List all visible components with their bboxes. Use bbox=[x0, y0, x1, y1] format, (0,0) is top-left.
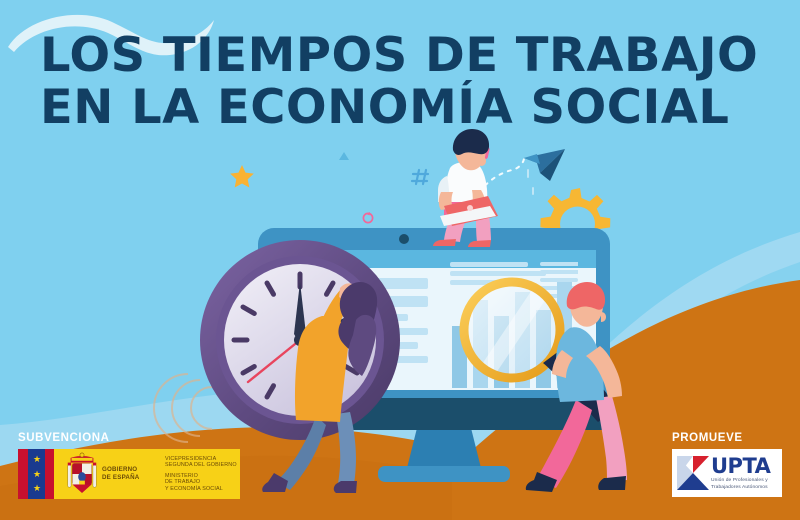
triangle-icon bbox=[339, 152, 349, 160]
gobierno-name-line1: GOBIERNO bbox=[102, 466, 160, 474]
ministerio-line3: Y ECONOMÍA SOCIAL bbox=[165, 486, 240, 492]
laptop-logo bbox=[467, 205, 473, 211]
paper-plane-icon bbox=[524, 149, 565, 181]
subvenciona-label: SUBVENCIONA bbox=[18, 432, 240, 444]
figure1-shoe-front bbox=[334, 481, 357, 493]
figure3-shoe-front bbox=[598, 476, 626, 490]
title-line-2: EN LA ECONOMÍA SOCIAL bbox=[40, 82, 774, 134]
star-icon bbox=[230, 165, 254, 188]
upta-wordmark: UPTA bbox=[711, 456, 778, 477]
upta-logo: UPTA Unión de Profesionales y Trabajador… bbox=[672, 449, 782, 497]
promueve-credit: PROMUEVE UPTA Unión de Profesionales y T… bbox=[672, 432, 782, 497]
title-line-1: LOS TIEMPOS DE TRABAJO bbox=[40, 30, 774, 82]
vicepresidencia-line2: SEGUNDA DEL GOBIERNO bbox=[165, 462, 240, 468]
gobierno-name-line2: DE ESPAÑA bbox=[102, 474, 160, 482]
ministerio-text: VICEPRESIDENCIA SEGUNDA DEL GOBIERNO MIN… bbox=[160, 449, 240, 499]
spanish-coat-of-arms-icon bbox=[62, 449, 102, 499]
upta-subtitle-line1: Unión de Profesionales y bbox=[711, 478, 778, 484]
eu-stars-icon: ★★★ bbox=[31, 455, 43, 493]
subvenciona-credit: SUBVENCIONA ★★★ bbox=[18, 432, 240, 499]
monitor-stand bbox=[406, 424, 482, 472]
monitor-base bbox=[378, 466, 510, 482]
upta-mark-icon bbox=[676, 455, 710, 491]
spanish-flag-strip: ★★★ bbox=[18, 449, 62, 499]
poster-canvas: LOS TIEMPOS DE TRABAJO EN LA ECONOMÍA SO… bbox=[0, 0, 800, 520]
promueve-label: PROMUEVE bbox=[672, 432, 782, 444]
monitor-camera bbox=[399, 234, 409, 244]
poster-title: LOS TIEMPOS DE TRABAJO EN LA ECONOMÍA SO… bbox=[40, 30, 760, 134]
circle-arrow-icon bbox=[363, 212, 372, 223]
figure3-leg-front bbox=[596, 396, 627, 482]
gobierno-name: GOBIERNO DE ESPAÑA bbox=[102, 449, 160, 499]
upta-subtitle-line2: Trabajadores Autónomos bbox=[711, 485, 778, 491]
gobierno-de-espana-logo: ★★★ bbox=[18, 449, 240, 499]
sparkle-icon bbox=[528, 170, 533, 194]
upta-text-block: UPTA Unión de Profesionales y Trabajador… bbox=[710, 456, 778, 491]
hashtag-icon bbox=[412, 170, 428, 184]
